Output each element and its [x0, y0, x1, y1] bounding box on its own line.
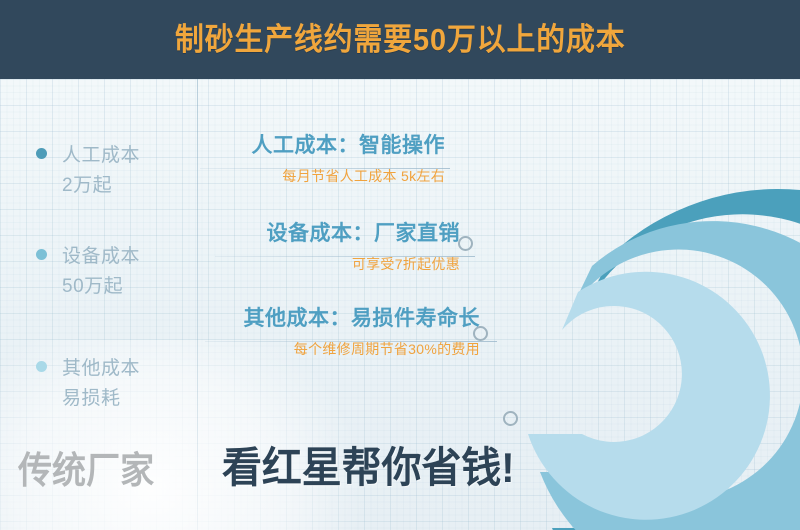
- sidebar-item-label: 其他成本 易损耗: [62, 354, 186, 414]
- callout-subtitle: 每月节省人工成本 5k左右: [210, 168, 445, 185]
- callout-equipment[interactable]: 设备成本：厂家直销 可享受7折起优惠: [225, 222, 460, 273]
- callout-other[interactable]: 其他成本：易损件寿命长 每个维修周期节省30%的费用: [215, 307, 480, 358]
- callout-subtitle: 每个维修周期节省30%的费用: [215, 341, 480, 358]
- sidebar-item-label: 人工成本 2万起: [62, 141, 186, 201]
- spiral-ring-middle: [540, 221, 800, 530]
- callout-subtitle: 可享受7折起优惠: [225, 256, 460, 273]
- sidebar-item-equipment[interactable]: 设备成本 50万起: [36, 242, 186, 302]
- sidebar-item-other[interactable]: 其他成本 易损耗: [36, 354, 186, 414]
- spiral-ring-inner: [528, 272, 770, 520]
- bullet-dot-icon: [36, 148, 47, 159]
- infographic-poster: 制砂生产线约需要50万以上的成本 人工成本 2万起: [0, 0, 800, 530]
- callout-marker-circle-icon: [458, 236, 473, 251]
- sidebar-item-labor[interactable]: 人工成本 2万起: [36, 141, 186, 201]
- callout-rule: [200, 168, 450, 169]
- callout-rule: [205, 341, 497, 342]
- bullet-dot-icon: [36, 249, 47, 260]
- sidebar-item-label: 设备成本 50万起: [62, 242, 186, 302]
- callout-marker-circle-icon: [503, 411, 518, 426]
- callout-title: 设备成本：厂家直销: [225, 222, 460, 246]
- callout-title: 其他成本：易损件寿命长: [215, 307, 480, 331]
- callout-rule: [215, 256, 475, 257]
- callout-title: 人工成本：智能操作: [210, 134, 445, 158]
- footer-savings-label: 看红星帮你省钱!: [222, 447, 515, 489]
- vertical-divider: [197, 79, 198, 530]
- callout-labor[interactable]: 人工成本：智能操作 每月节省人工成本 5k左右: [210, 134, 445, 185]
- page-title: 制砂生产线约需要50万以上的成本: [175, 24, 626, 55]
- footer-old-vendor-label: 传统厂家: [18, 452, 154, 489]
- header-banner: 制砂生产线约需要50万以上的成本: [0, 0, 800, 79]
- spiral-ring-outer: [552, 189, 800, 530]
- bullet-dot-icon: [36, 361, 47, 372]
